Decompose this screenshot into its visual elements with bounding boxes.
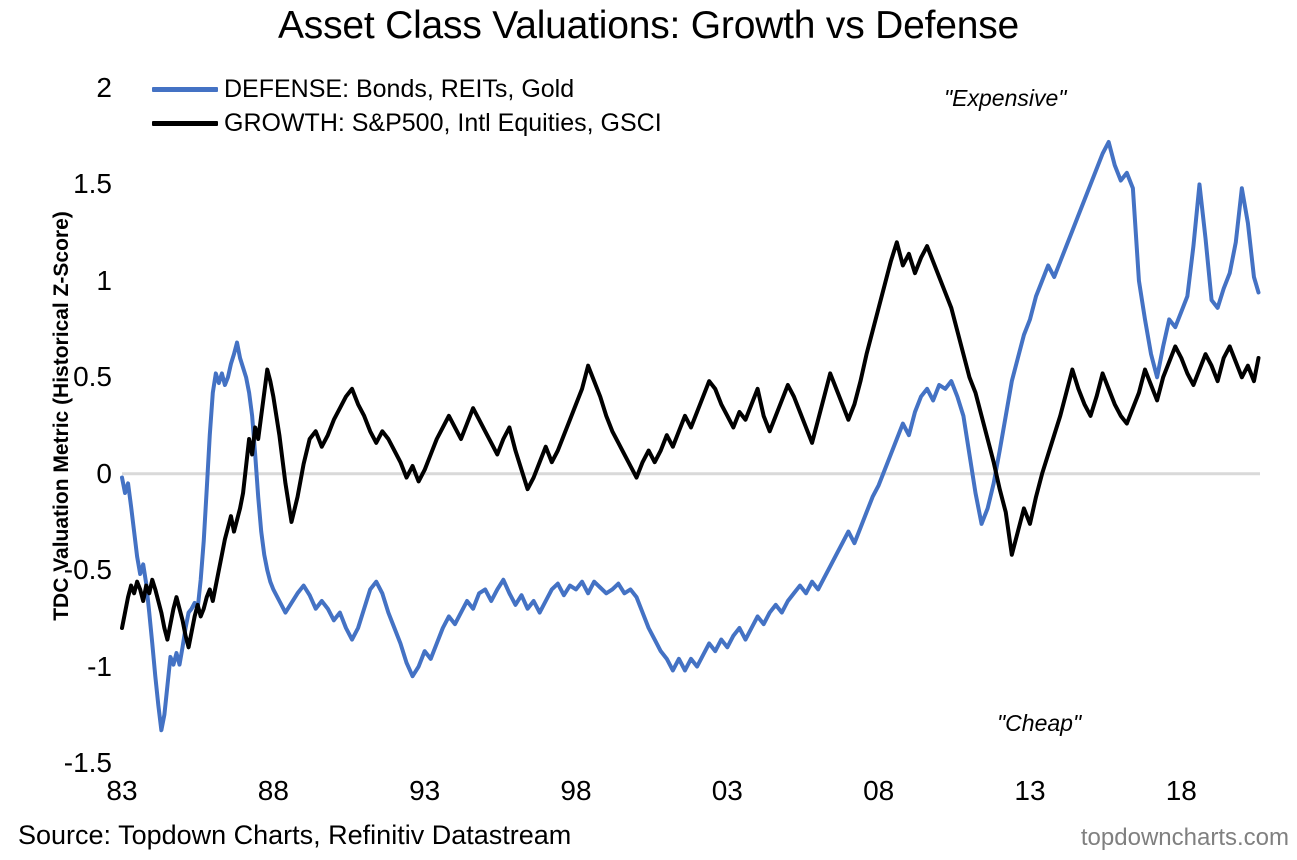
series-line-growth <box>122 242 1258 647</box>
x-tick-label: 13 <box>985 777 1075 805</box>
chart-container: Asset Class Valuations: Growth vs Defens… <box>0 0 1297 860</box>
legend-item-defense: DEFENSE: Bonds, REITs, Gold <box>152 72 662 106</box>
x-tick-label: 83 <box>77 777 167 805</box>
x-tick-label: 98 <box>531 777 621 805</box>
legend-item-growth: GROWTH: S&P500, Intl Equities, GSCI <box>152 106 662 140</box>
legend-label-defense: DEFENSE: Bonds, REITs, Gold <box>224 77 574 102</box>
chart-legend: DEFENSE: Bonds, REITs, Gold GROWTH: S&P5… <box>152 72 662 140</box>
plot-svg <box>122 88 1260 763</box>
plot-area <box>122 88 1260 763</box>
legend-swatch-growth <box>152 121 218 126</box>
annotation-expensive: "Expensive" <box>944 85 1066 112</box>
watermark: topdowncharts.com <box>1081 824 1289 852</box>
x-tick-label: 88 <box>228 777 318 805</box>
x-tick-label: 08 <box>834 777 924 805</box>
series-lines <box>122 142 1258 730</box>
source-text: Source: Topdown Charts, Refinitiv Datast… <box>18 820 571 850</box>
series-line-defense <box>122 142 1258 730</box>
legend-swatch-defense <box>152 87 218 92</box>
annotation-cheap: "Cheap" <box>997 710 1081 737</box>
legend-label-growth: GROWTH: S&P500, Intl Equities, GSCI <box>224 111 662 136</box>
x-tick-label: 18 <box>1136 777 1226 805</box>
x-tick-label: 03 <box>682 777 772 805</box>
x-tick-label: 93 <box>380 777 470 805</box>
